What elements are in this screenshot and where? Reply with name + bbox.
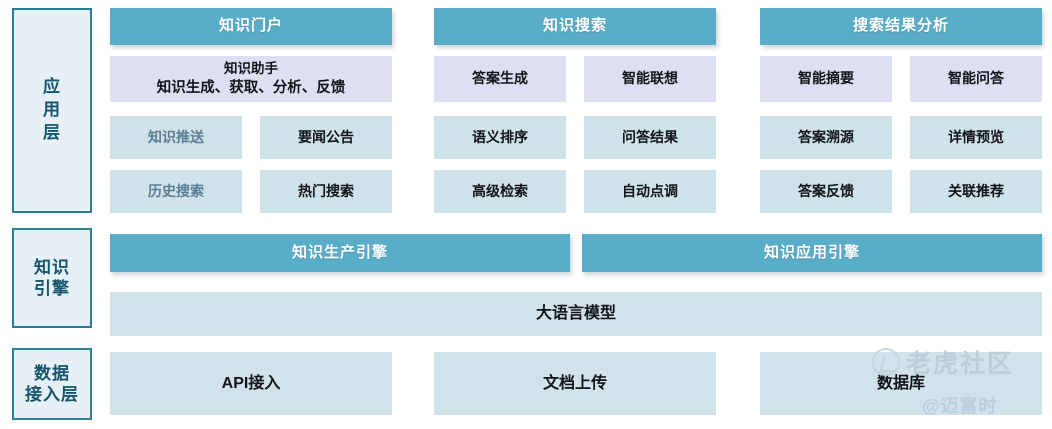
foundation-large-language-model[interactable]: 大语言模型 [110, 292, 1042, 336]
card-knowledge-push[interactable]: 知识推送 [110, 116, 242, 159]
card-auto-tuning[interactable]: 自动点调 [584, 170, 716, 213]
card-label: 语义排序 [472, 129, 528, 147]
column-header-knowledge-search[interactable]: 知识搜索 [434, 8, 716, 45]
data-source-label: API接入 [222, 374, 281, 394]
data-source-label: 数据库 [877, 374, 925, 394]
engine-knowledge-production[interactable]: 知识生产引擎 [110, 234, 570, 272]
layer-label-application: 应 用 层 [12, 8, 92, 213]
card-label: 高级检索 [472, 183, 528, 201]
architecture-diagram: 应 用 层 知识门户 知识助手 知识生成、获取、分析、反馈 知识推送 要闻公告 … [0, 0, 1052, 429]
card-answer-generation[interactable]: 答案生成 [434, 56, 566, 102]
layer-label-knowledge-engine: 知识 引擎 [12, 228, 92, 328]
card-semantic-ranking[interactable]: 语义排序 [434, 116, 566, 159]
engine-label: 知识生产引擎 [292, 244, 388, 263]
card-label: 智能问答 [948, 70, 1004, 88]
card-label: 详情预览 [948, 129, 1004, 147]
layer-label-data-access: 数据 接入层 [12, 348, 92, 420]
card-label: 答案反馈 [798, 183, 854, 201]
column-header-label: 知识搜索 [543, 17, 607, 36]
layer-label-line: 层 [43, 122, 61, 145]
card-history-search[interactable]: 历史搜索 [110, 170, 242, 213]
card-smart-association[interactable]: 智能联想 [584, 56, 716, 102]
column-header-label: 知识门户 [219, 17, 283, 36]
assistant-title: 知识助手 [224, 61, 278, 78]
card-answer-traceability[interactable]: 答案溯源 [760, 116, 892, 159]
foundation-label: 大语言模型 [536, 304, 616, 324]
data-source-label: 文档上传 [543, 374, 607, 394]
card-detail-preview[interactable]: 详情预览 [910, 116, 1042, 159]
card-label: 知识推送 [148, 129, 204, 147]
card-smart-qa[interactable]: 智能问答 [910, 56, 1042, 102]
layer-label-line: 应 [43, 76, 61, 99]
layer-label-line: 接入层 [25, 384, 79, 405]
card-knowledge-assistant[interactable]: 知识助手 知识生成、获取、分析、反馈 [110, 56, 392, 102]
card-label: 要闻公告 [298, 129, 354, 147]
card-label: 智能联想 [622, 70, 678, 88]
card-label: 关联推荐 [948, 183, 1004, 201]
card-label: 热门搜索 [298, 183, 354, 201]
card-qa-result[interactable]: 问答结果 [584, 116, 716, 159]
card-hot-search[interactable]: 热门搜索 [260, 170, 392, 213]
card-related-recommendation[interactable]: 关联推荐 [910, 170, 1042, 213]
data-source-api-access[interactable]: API接入 [110, 352, 392, 415]
card-label: 历史搜索 [148, 183, 204, 201]
layer-label-line: 用 [43, 99, 61, 122]
card-label: 答案生成 [472, 70, 528, 88]
layer-label-line: 引擎 [34, 278, 70, 299]
engine-knowledge-application[interactable]: 知识应用引擎 [582, 234, 1042, 272]
card-news-announcement[interactable]: 要闻公告 [260, 116, 392, 159]
layer-label-line: 数据 [34, 363, 70, 384]
column-header-search-result-analysis[interactable]: 搜索结果分析 [760, 8, 1042, 45]
card-answer-feedback[interactable]: 答案反馈 [760, 170, 892, 213]
card-label: 自动点调 [622, 183, 678, 201]
column-header-knowledge-portal[interactable]: 知识门户 [110, 8, 392, 45]
card-smart-summary[interactable]: 智能摘要 [760, 56, 892, 102]
card-label: 问答结果 [622, 129, 678, 147]
assistant-subtitle: 知识生成、获取、分析、反馈 [157, 79, 346, 97]
card-advanced-retrieval[interactable]: 高级检索 [434, 170, 566, 213]
data-source-document-upload[interactable]: 文档上传 [434, 352, 716, 415]
card-label: 智能摘要 [798, 70, 854, 88]
data-source-database[interactable]: 数据库 [760, 352, 1042, 415]
card-label: 答案溯源 [798, 129, 854, 147]
layer-label-line: 知识 [34, 257, 70, 278]
column-header-label: 搜索结果分析 [853, 17, 949, 36]
engine-label: 知识应用引擎 [764, 244, 860, 263]
